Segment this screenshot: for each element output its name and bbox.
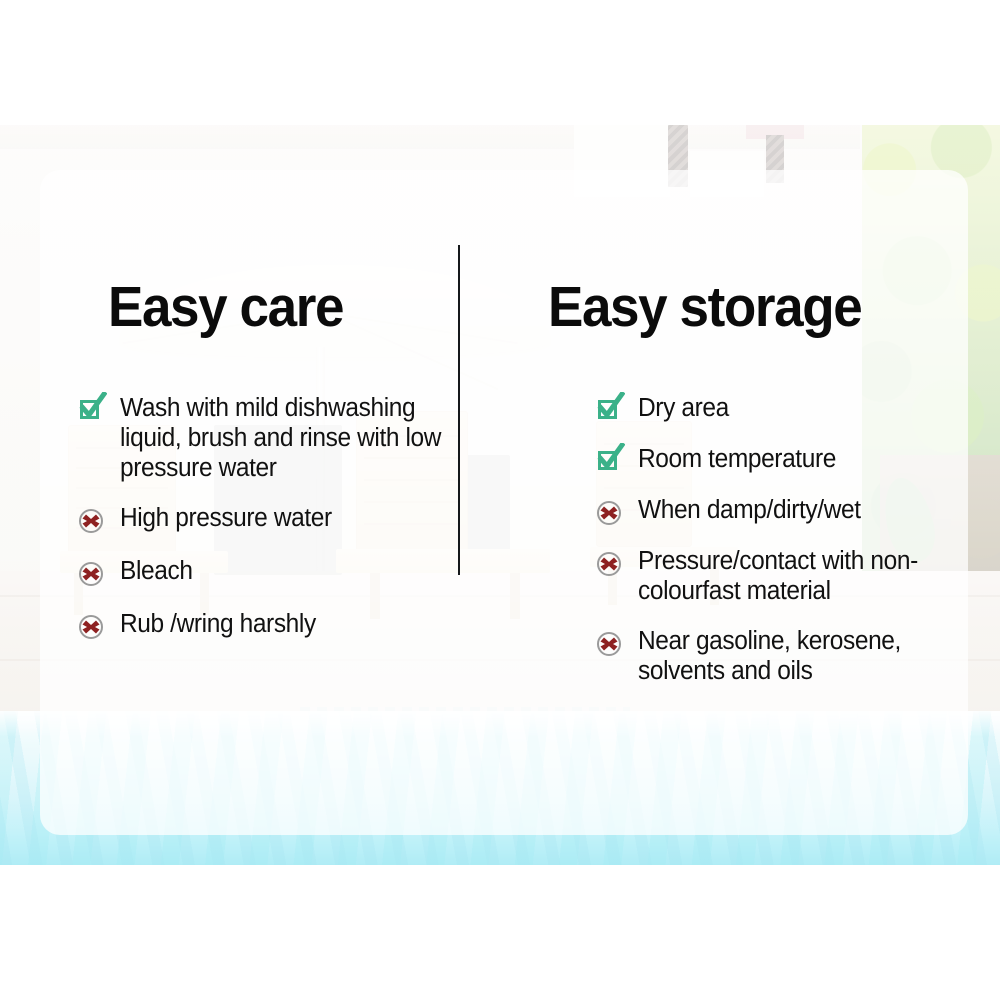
list-item-label: Rub /wring harshly xyxy=(120,609,316,639)
list-item: Room temperature xyxy=(596,444,956,475)
page-title-easy-storage: Easy storage xyxy=(548,278,861,336)
list-item: Dry area xyxy=(596,393,956,424)
list-item: Near gasoline, kerosene, solvents and oi… xyxy=(596,626,956,686)
list-item-label: Dry area xyxy=(638,393,729,423)
page-title-easy-care: Easy care xyxy=(108,278,343,336)
cross-glyph-icon xyxy=(79,615,103,639)
check-icon xyxy=(596,447,624,475)
cross-icon xyxy=(78,559,106,587)
cross-icon xyxy=(78,612,106,640)
cross-icon xyxy=(596,549,624,577)
cross-glyph-icon xyxy=(597,632,621,656)
check-tick-icon xyxy=(77,392,107,422)
list-item: Pressure/contact with non-colourfast mat… xyxy=(596,546,956,606)
cross-icon xyxy=(78,506,106,534)
easy-care-list: Wash with mild dishwashing liquid, brush… xyxy=(78,393,468,660)
check-icon xyxy=(78,396,106,424)
cross-glyph-icon xyxy=(597,552,621,576)
cross-glyph-icon xyxy=(597,501,621,525)
list-item-label: Wash with mild dishwashing liquid, brush… xyxy=(120,393,454,483)
list-item-label: High pressure water xyxy=(120,503,332,533)
list-item: Rub /wring harshly xyxy=(78,609,468,640)
cross-glyph-icon xyxy=(79,562,103,586)
list-item: High pressure water xyxy=(78,503,468,534)
check-tick-icon xyxy=(595,392,625,422)
infographic-canvas: Easy care Wash with mild dishwashing liq… xyxy=(0,0,1000,1000)
cross-icon xyxy=(596,629,624,657)
check-icon xyxy=(596,396,624,424)
cross-icon xyxy=(596,498,624,526)
list-item-label: Room temperature xyxy=(638,444,836,474)
list-item-label: Bleach xyxy=(120,556,193,586)
check-tick-icon xyxy=(595,443,625,473)
list-item-label: Near gasoline, kerosene, solvents and oi… xyxy=(638,626,943,686)
list-item-label: When damp/dirty/wet xyxy=(638,495,861,525)
list-item-label: Pressure/contact with non-colourfast mat… xyxy=(638,546,943,606)
list-item: Wash with mild dishwashing liquid, brush… xyxy=(78,393,468,483)
easy-storage-list: Dry area Room temperature When damp/dirt… xyxy=(596,393,956,706)
easy-storage-heading-wrap: Easy storage xyxy=(548,278,885,336)
list-item: Bleach xyxy=(78,556,468,587)
easy-care-heading-wrap: Easy care xyxy=(108,278,361,336)
list-item: When damp/dirty/wet xyxy=(596,495,956,526)
cross-glyph-icon xyxy=(79,509,103,533)
